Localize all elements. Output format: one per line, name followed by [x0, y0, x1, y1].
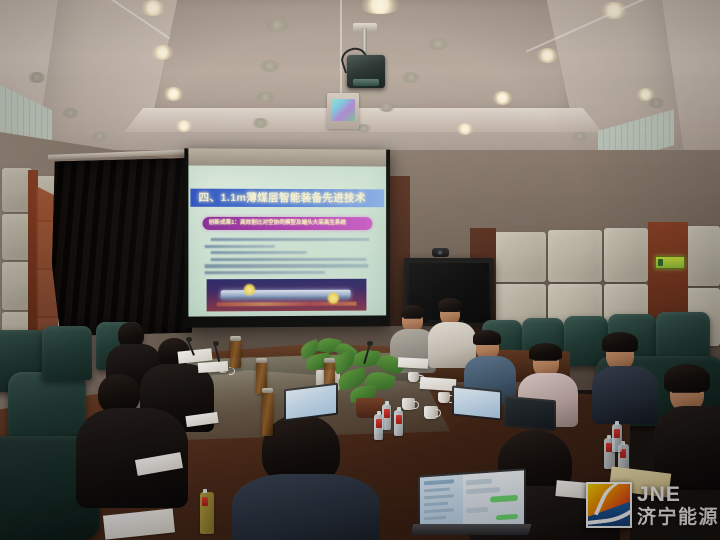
ceiling-fixture [260, 60, 280, 72]
slide-diagram [207, 279, 367, 312]
laptop [504, 398, 556, 430]
microphone-head [186, 337, 192, 342]
slide-diagram-highlight [327, 292, 340, 305]
ceiling-fixture [428, 38, 448, 50]
attendee-glasses [672, 392, 700, 396]
slide-text-line [205, 245, 275, 248]
attendee-glasses [534, 360, 557, 364]
slide-subtitle-text: 创新成果1：高效割比对空协同模型及端头大采高生系统 [209, 218, 369, 229]
recessed-downlight [140, 0, 166, 16]
ceiling-fixture [266, 18, 288, 32]
tea-cup [438, 392, 450, 403]
water-bottle [612, 424, 622, 452]
slide-diagram-highlight [243, 283, 256, 296]
recessed-downlight [175, 120, 193, 132]
microphone-head [367, 341, 373, 346]
attendee-hair [438, 298, 462, 312]
conference-room-photo: 四、1.1m薄煤层智能装备先进技术 创新成果1：高效割比对空协同模型及端头大采高… [0, 0, 720, 540]
laptop [452, 388, 502, 418]
laptop-base [411, 524, 532, 535]
ceiling-display-screen [331, 99, 355, 121]
executive-chair [42, 326, 92, 380]
acoustic-wall-panel [548, 230, 602, 282]
slide-text-line [205, 271, 325, 275]
jne-logo-mark [586, 482, 632, 528]
logo-text-group: JNE 济宁能源 [637, 484, 719, 527]
document [198, 361, 229, 373]
laptop-screen [454, 388, 500, 419]
projector-body [347, 55, 385, 88]
tea-cup [402, 398, 415, 410]
logo-brand-chinese: 济宁能源 [637, 508, 719, 527]
attendee-glasses [404, 318, 421, 322]
attendee-hair [401, 305, 424, 318]
slide-body-text [205, 238, 371, 278]
recessed-downlight [536, 48, 559, 63]
microphone-head [213, 341, 219, 346]
water-bottle [382, 404, 391, 430]
tea-glass [230, 340, 241, 368]
projection-screen-housing [188, 148, 386, 166]
ceiling-fixture [648, 98, 665, 108]
ceiling-fixture [92, 132, 107, 141]
slide-subtitle-pill: 创新成果1：高效割比对空协同模型及端头大采高生系统 [203, 217, 373, 230]
ceiling-fixture [28, 72, 46, 83]
attendee-hair [473, 330, 501, 345]
emergency-exit-sign [655, 256, 685, 269]
ceiling-fixture [378, 102, 395, 112]
blackout-curtain [52, 158, 192, 336]
attendee-body [592, 366, 658, 424]
attendee-hair [664, 364, 710, 392]
recessed-downlight [151, 45, 174, 60]
slide-text-line [211, 258, 367, 261]
watermark-logo: JNE 济宁能源 [586, 482, 719, 528]
laptop [418, 472, 536, 536]
ceiling-projector [345, 28, 387, 90]
laptop-screen [506, 398, 554, 429]
tea-cup [408, 372, 419, 382]
acoustic-wall-panel [686, 226, 720, 286]
ceiling-fixture [572, 132, 587, 141]
acoustic-wall-panel [494, 232, 546, 282]
attendee-hair [602, 332, 638, 352]
slide-text-line [211, 251, 308, 254]
logo-brand-latin: JNE [637, 484, 719, 505]
ceiling-fixture [402, 72, 420, 83]
recessed-downlight [163, 87, 184, 101]
recessed-downlight [600, 2, 628, 19]
tea-cup [424, 406, 438, 419]
video-conference-camera [432, 248, 449, 257]
projector-lens [353, 79, 379, 86]
slide-text-line [211, 238, 370, 241]
slide-title: 四、1.1m薄煤层智能装备先进技术 [199, 190, 384, 207]
ceiling-fixture [62, 108, 79, 118]
water-bottle [374, 414, 383, 440]
attendee-body [232, 474, 380, 540]
acoustic-wall-panel [604, 228, 648, 282]
document [420, 377, 457, 391]
ceiling-speaker-display [327, 93, 359, 129]
ceiling [0, 0, 720, 168]
water-bottle [394, 410, 403, 436]
projection-screen: 四、1.1m薄煤层智能装备先进技术 创新成果1：高效割比对空协同模型及端头大采高… [188, 165, 386, 316]
ceiling-fixture [256, 92, 275, 103]
recessed-downlight [492, 91, 513, 105]
laptop-screen [286, 385, 336, 419]
laptop [284, 386, 342, 420]
document [398, 357, 428, 369]
tea-glass [262, 392, 273, 436]
tea-bottle [200, 492, 214, 534]
attendee-hair [529, 343, 562, 360]
projection-screen-frame: 四、1.1m薄煤层智能装备先进技术 创新成果1：高效割比对空协同模型及端头大采高… [184, 148, 390, 327]
recessed-downlight [456, 123, 474, 135]
ceiling-fixture [252, 118, 269, 128]
slide-text-line [205, 264, 369, 268]
